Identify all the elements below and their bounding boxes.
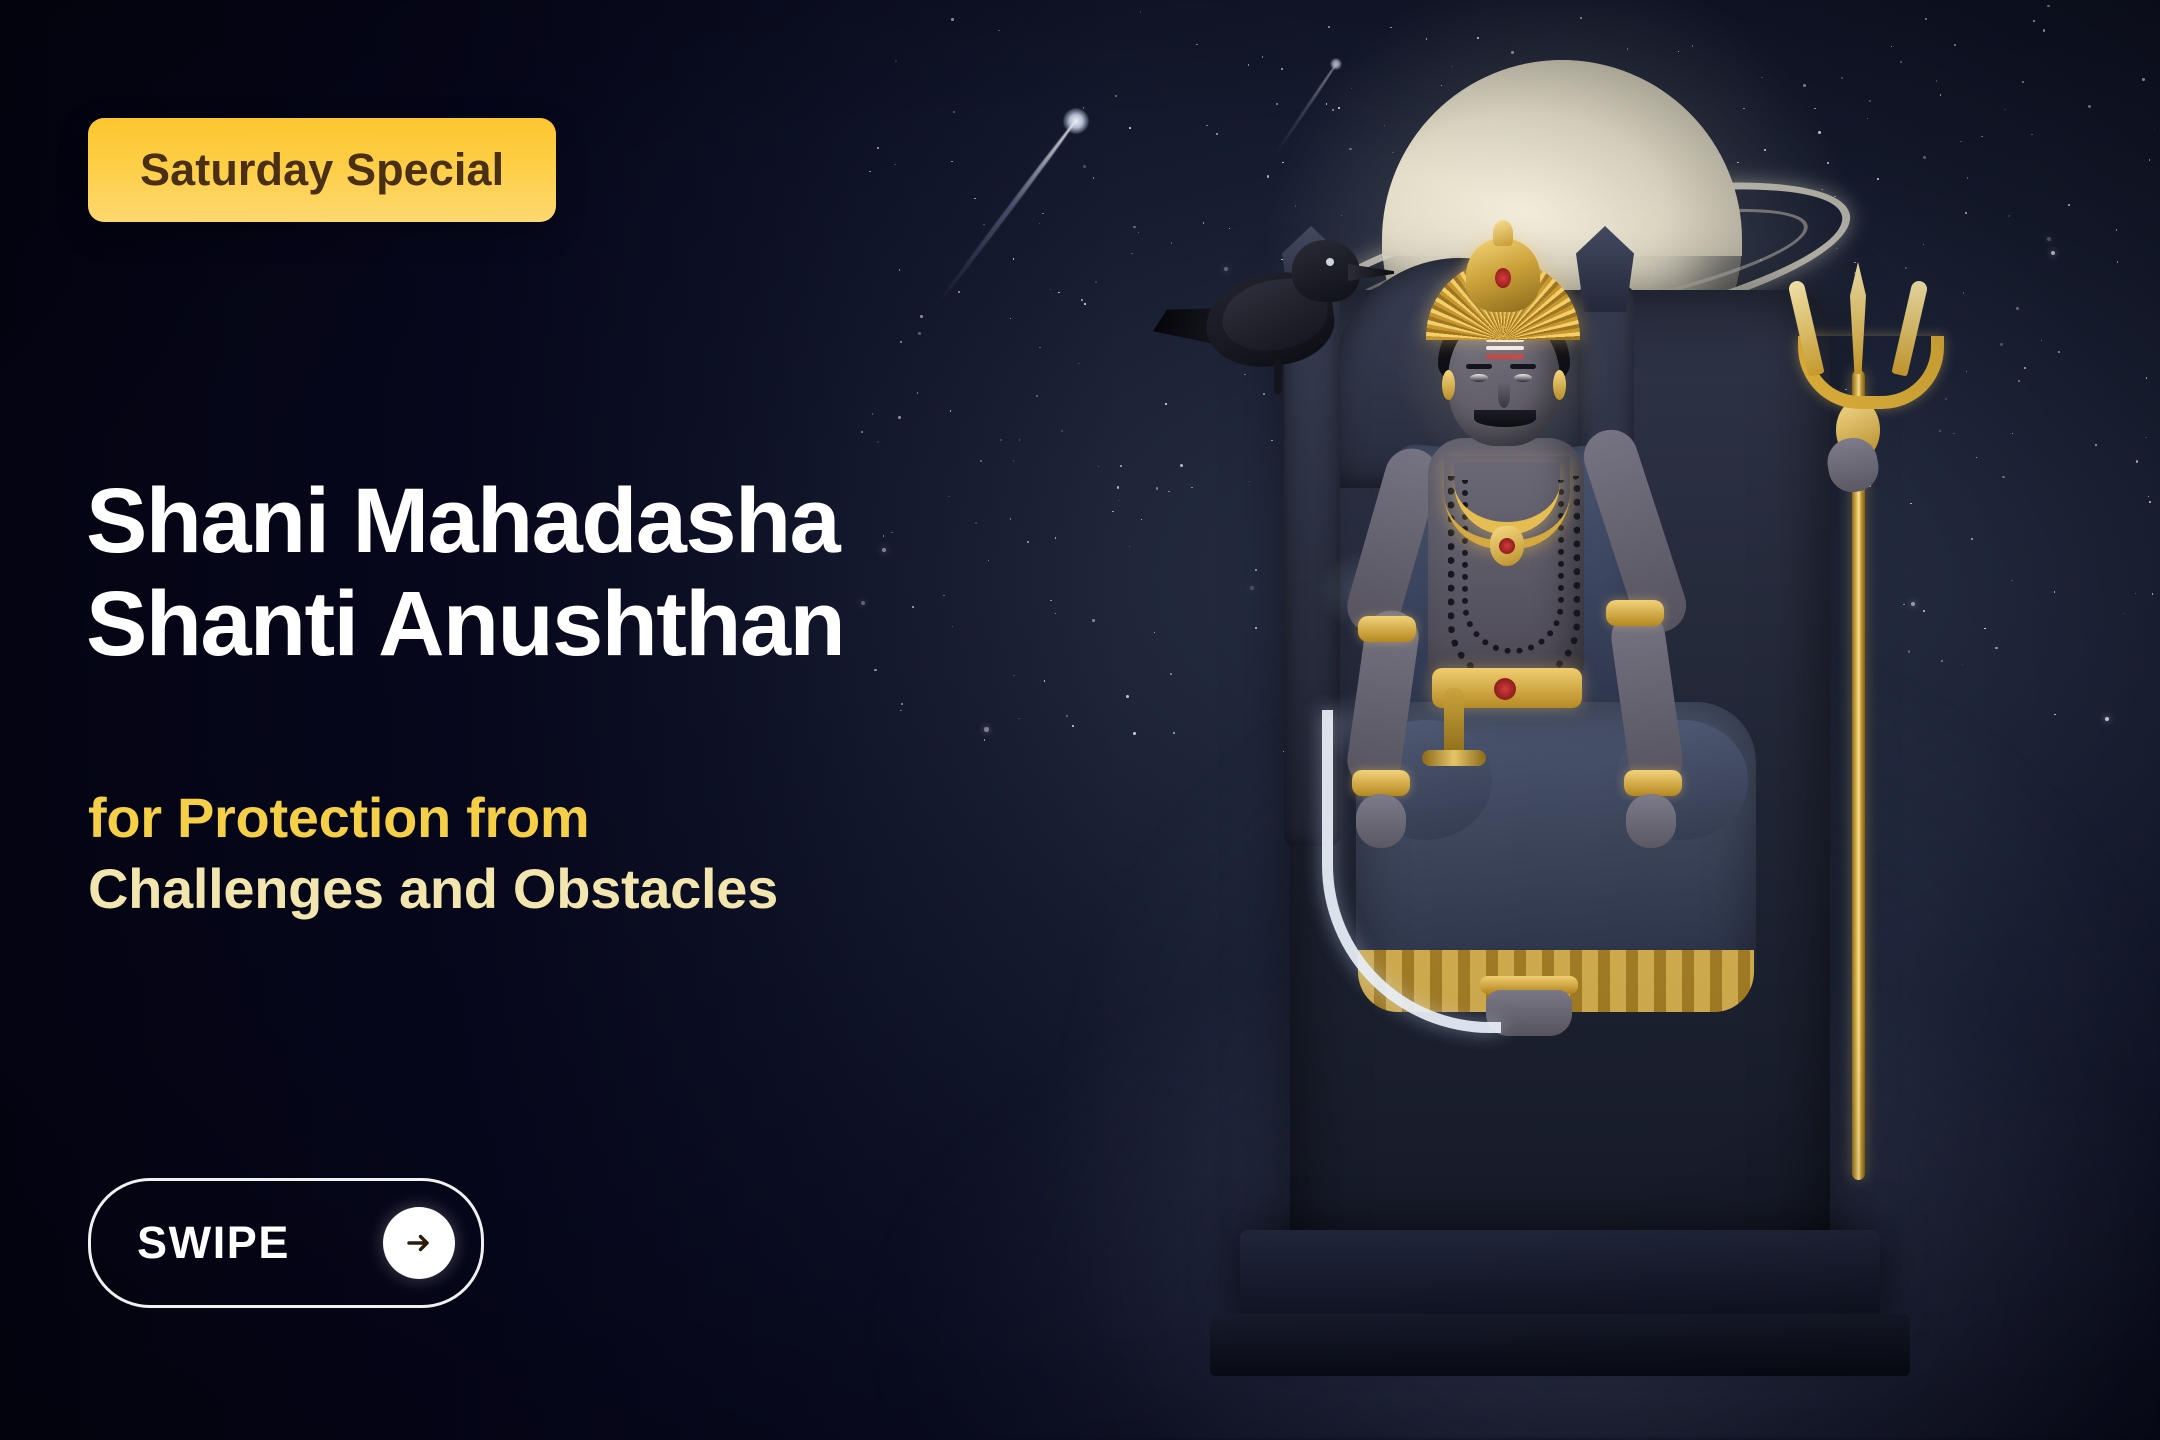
page-title: Shani Mahadasha Shanti Anushthan: [86, 470, 1146, 676]
saturday-special-badge: Saturday Special: [88, 118, 556, 222]
throne-step: [1210, 1314, 1910, 1376]
throne-base: [1240, 1230, 1880, 1326]
crow-leg: [1274, 360, 1282, 394]
bangle-lower-right: [1624, 770, 1682, 796]
belt-gem: [1494, 678, 1516, 700]
tilak-line-2: [1486, 346, 1524, 350]
brow-left: [1466, 364, 1492, 369]
crown-tip: [1493, 220, 1513, 246]
promo-banner: Saturday Special Shani Mahadasha Shanti …: [0, 0, 2160, 1440]
page-subtitle: for Protection from Challenges and Obsta…: [88, 782, 1128, 924]
crow-eye: [1326, 258, 1334, 266]
earring-right: [1553, 370, 1566, 400]
eye-right: [1514, 374, 1532, 382]
hand-right: [1626, 794, 1676, 848]
tilak-line-3: [1486, 354, 1524, 359]
swipe-label: SWIPE: [137, 1217, 290, 1269]
arrow-right-icon[interactable]: [383, 1207, 455, 1279]
crown-icon: [1426, 232, 1580, 344]
subhead-line-1: for Protection from: [88, 782, 1128, 853]
swipe-button[interactable]: SWIPE: [88, 1178, 484, 1308]
moustache: [1474, 410, 1536, 427]
sword-guard: [1422, 750, 1486, 766]
pendant-gem: [1499, 538, 1515, 554]
eye-left: [1470, 374, 1488, 382]
crown-gem: [1495, 268, 1511, 288]
headline-line-2: Shanti Anushthan: [86, 573, 1146, 676]
earring-left: [1442, 370, 1455, 400]
headline-line-1: Shani Mahadasha: [86, 470, 1146, 573]
subhead-line-2: Challenges and Obstacles: [88, 853, 1128, 924]
sword-icon: [1326, 680, 1496, 1030]
crow-icon: [1170, 198, 1400, 428]
crow-beak: [1348, 264, 1394, 281]
bangle-upper-left: [1358, 616, 1416, 642]
trishul-icon: [1792, 262, 1924, 402]
brow-right: [1510, 364, 1536, 369]
badge-label: Saturday Special: [140, 144, 504, 195]
deity-scene: [1180, 250, 1980, 1440]
nose: [1498, 382, 1510, 408]
trishul-prong-left: [1787, 279, 1824, 376]
bangle-upper-right: [1606, 600, 1664, 626]
